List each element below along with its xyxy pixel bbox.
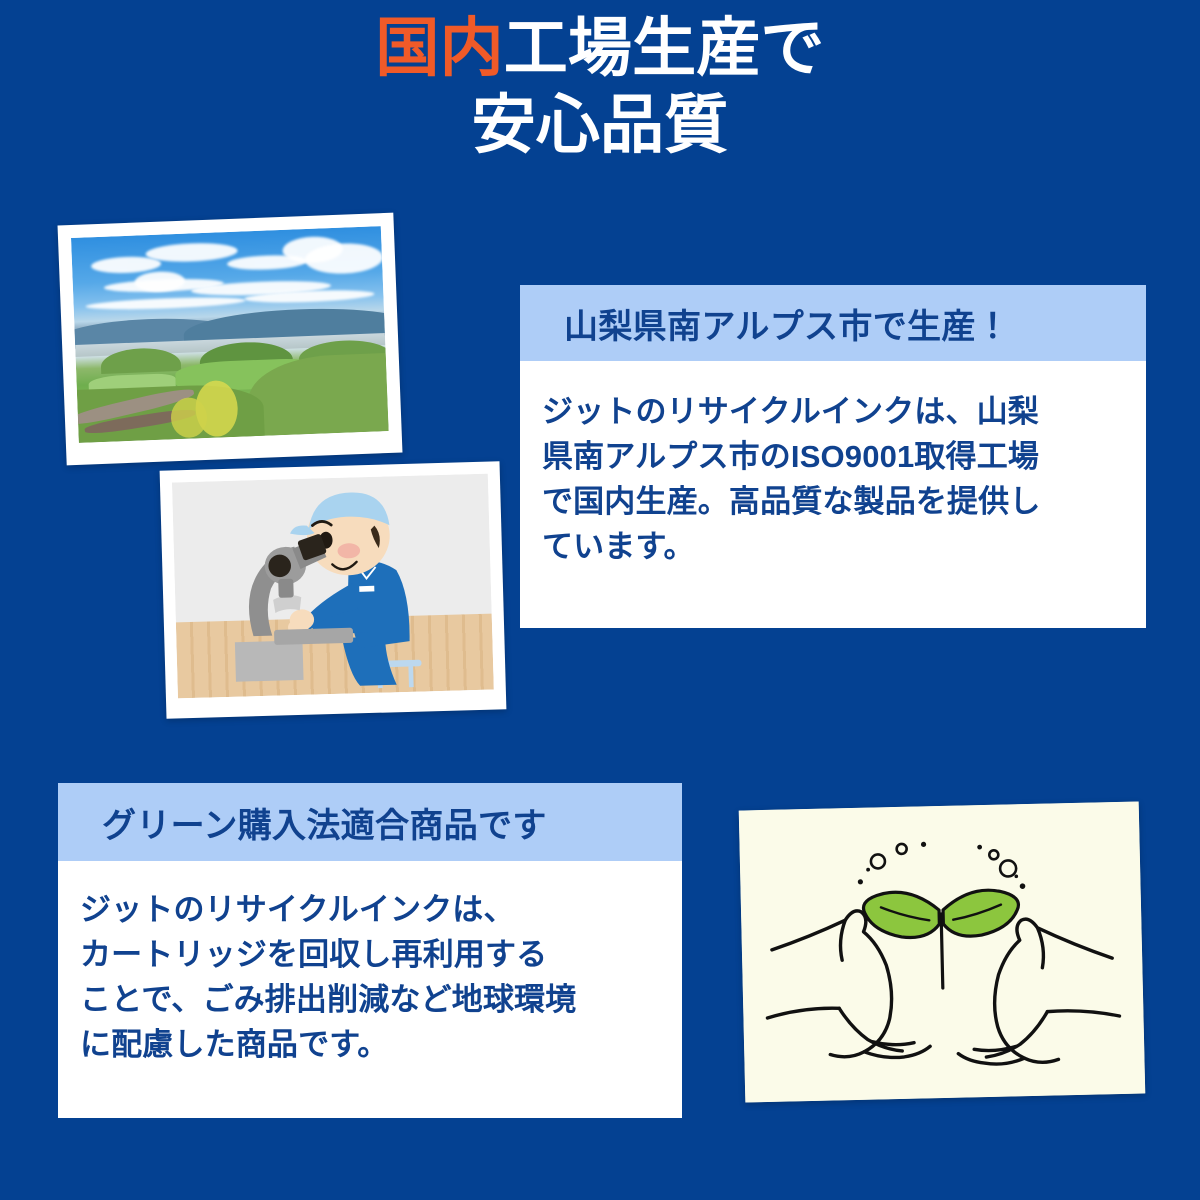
panel-green-body-line: ことで、ごみ排出削減など地球環境 bbox=[80, 977, 682, 1022]
panel-production-body-line: で国内生産。高品質な製品を提供し bbox=[542, 479, 1146, 524]
eco-illustration-card bbox=[739, 802, 1146, 1103]
headline-line-1: 国内工場生産で bbox=[0, 16, 1200, 81]
panel-green-body: ジットのリサイクルインクは、 カートリッジを回収し再利用する ことで、ごみ排出削… bbox=[58, 861, 682, 1067]
panel-green-header: グリーン購入法適合商品です bbox=[58, 783, 682, 861]
microscope-worker-svg bbox=[172, 474, 494, 699]
headline-accent-text: 国内 bbox=[375, 12, 503, 84]
eco-scene-image bbox=[739, 802, 1146, 1103]
eco-illustration bbox=[739, 802, 1146, 1103]
landscape-photo-card bbox=[58, 213, 403, 466]
poster-root: 国内工場生産で 安心品質 bbox=[0, 0, 1200, 1200]
panel-green-body-line: カートリッジを回収し再利用する bbox=[80, 932, 682, 977]
headline-line-2: 安心品質 bbox=[0, 93, 1200, 158]
panel-production-header: 山梨県南アルプス市で生産！ bbox=[520, 285, 1146, 361]
panel-production-body-line: ています。 bbox=[542, 524, 1146, 569]
page-title: 国内工場生産で 安心品質 bbox=[0, 16, 1200, 159]
panel-production: 山梨県南アルプス市で生産！ ジットのリサイクルインクは、山梨 県南アルプス市のI… bbox=[520, 285, 1146, 628]
landscape-scene-image bbox=[71, 226, 389, 443]
panel-production-body-line: 県南アルプス市のISO9001取得工場 bbox=[542, 434, 1146, 479]
microscope-photo-card bbox=[160, 461, 507, 718]
microscope-scene-image bbox=[172, 474, 494, 699]
panel-green-purchasing: グリーン購入法適合商品です ジットのリサイクルインクは、 カートリッジを回収し再… bbox=[58, 783, 682, 1118]
hands-sprout-svg bbox=[739, 802, 1146, 1103]
panel-production-body-line: ジットのリサイクルインクは、山梨 bbox=[542, 389, 1146, 434]
panel-green-body-line: に配慮した商品です。 bbox=[80, 1022, 682, 1067]
panel-production-body: ジットのリサイクルインクは、山梨 県南アルプス市のISO9001取得工場 で国内… bbox=[520, 361, 1146, 569]
landscape-photo bbox=[71, 226, 389, 443]
panel-green-body-line: ジットのリサイクルインクは、 bbox=[80, 887, 682, 932]
headline-line-1-rest: 工場生産で bbox=[504, 12, 825, 84]
microscope-illustration bbox=[172, 474, 494, 699]
